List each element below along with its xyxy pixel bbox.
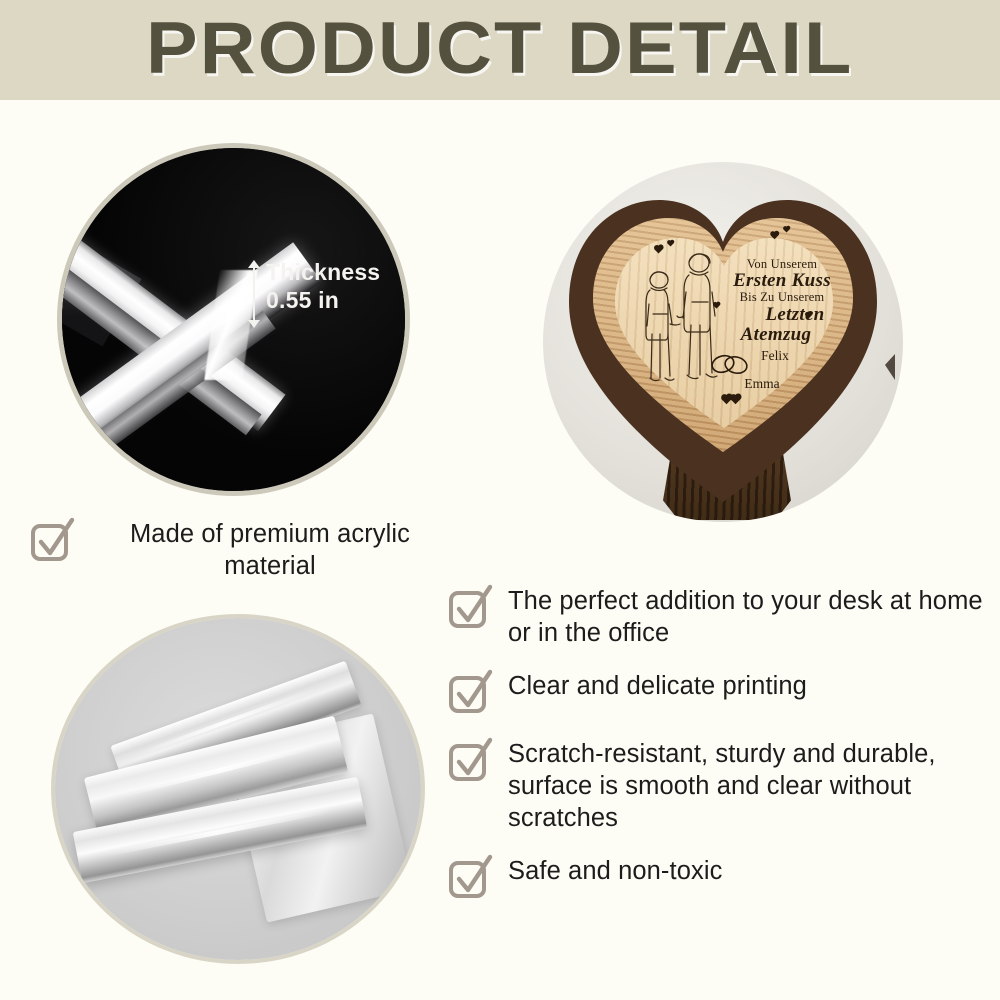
plaque-engraved-text: Von Unserem Ersten Kuss Bis Zu Unserem L… xyxy=(707,258,857,391)
arrow-shaft xyxy=(253,266,255,322)
plaque-line-4: Letzten xyxy=(733,305,857,325)
thickness-label-line1: Thickness xyxy=(266,258,380,286)
thickness-label: Thickness 0.55 in xyxy=(266,258,380,314)
checkbox-check-icon xyxy=(448,585,492,629)
acrylic-sheets-photo xyxy=(55,618,421,960)
feature-item-desk: The perfect addition to your desk at hom… xyxy=(448,585,993,649)
checkbox-check-icon xyxy=(448,738,492,782)
feature-item-safe: Safe and non-toxic xyxy=(448,855,993,899)
thickness-dimension-arrow xyxy=(248,260,260,328)
feature-label: Scratch-resistant, sturdy and durable, s… xyxy=(508,738,993,834)
checkbox-check-icon xyxy=(448,670,492,714)
header-band: PRODUCT DETAIL xyxy=(0,0,1000,100)
feature-label: Clear and delicate printing xyxy=(508,670,807,702)
feature-item-scratch: Scratch-resistant, sturdy and durable, s… xyxy=(448,738,993,834)
feature-item-printing: Clear and delicate printing xyxy=(448,670,993,714)
feature-item-acrylic: Made of premium acrylic material xyxy=(30,518,460,582)
feature-label: The perfect addition to your desk at hom… xyxy=(508,585,993,649)
plaque-line-2: Ersten Kuss xyxy=(707,271,857,291)
photo-edge-notch xyxy=(885,354,895,380)
feature-label: Safe and non-toxic xyxy=(508,855,722,887)
plaque-line-1: Von Unserem xyxy=(707,258,857,271)
checkbox-check-icon xyxy=(448,855,492,899)
checkbox-check-icon xyxy=(30,518,74,562)
arrow-head-down-icon xyxy=(248,320,260,328)
plaque-name-1: Felix xyxy=(693,349,857,363)
double-heart-icon xyxy=(723,396,749,408)
thickness-label-line2: 0.55 in xyxy=(266,286,380,314)
heart-plaque-photo: Von Unserem Ersten Kuss Bis Zu Unserem L… xyxy=(543,162,903,522)
page-title: PRODUCT DETAIL xyxy=(146,12,853,85)
heart-plaque: Von Unserem Ersten Kuss Bis Zu Unserem L… xyxy=(567,184,879,506)
plaque-name-2: Emma xyxy=(667,377,857,391)
feature-label: Made of premium acrylic material xyxy=(90,518,450,582)
acrylic-edge-photo: Thickness 0.55 in xyxy=(62,148,405,491)
plaque-line-5: Atemzug xyxy=(695,325,857,345)
plaque-line-3: Bis Zu Unserem xyxy=(707,291,857,304)
